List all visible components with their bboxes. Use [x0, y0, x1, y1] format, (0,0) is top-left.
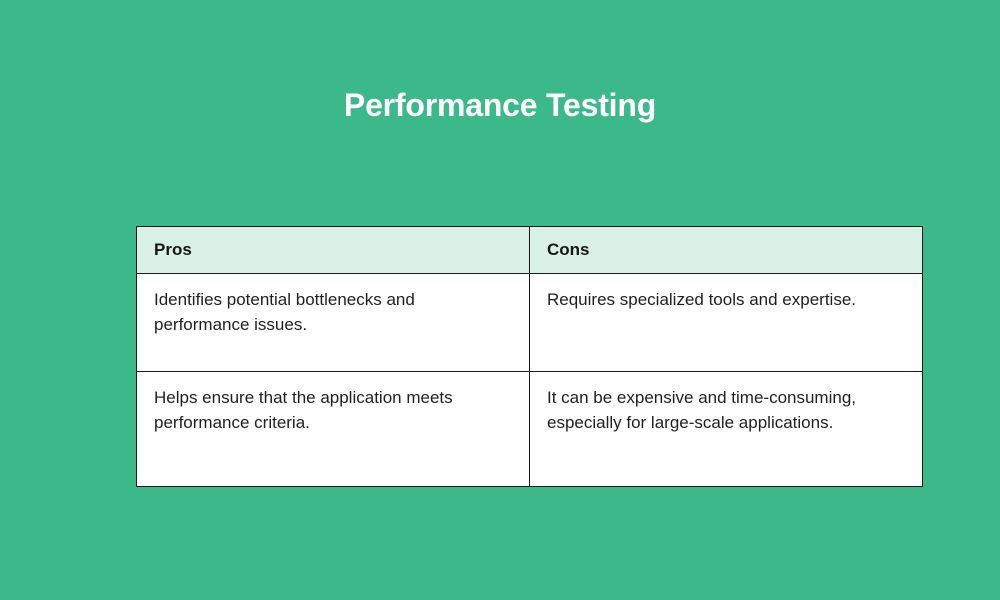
column-header-cons: Cons [530, 227, 923, 274]
table-body: Identifies potential bottlenecks and per… [137, 274, 923, 487]
column-header-pros: Pros [137, 227, 530, 274]
cell-cons-2: It can be expensive and time-consuming, … [530, 372, 923, 487]
pros-cons-table: Pros Cons Identifies potential bottlenec… [136, 226, 923, 487]
slide-canvas: Performance Testing Pros Cons Identifies… [0, 0, 1000, 600]
cell-cons-1: Requires specialized tools and expertise… [530, 274, 923, 372]
table-header: Pros Cons [137, 227, 923, 274]
page-title: Performance Testing [0, 84, 1000, 126]
table-header-row: Pros Cons [137, 227, 923, 274]
table-row: Identifies potential bottlenecks and per… [137, 274, 923, 372]
cell-pros-2: Helps ensure that the application meets … [137, 372, 530, 487]
cell-pros-1: Identifies potential bottlenecks and per… [137, 274, 530, 372]
table-row: Helps ensure that the application meets … [137, 372, 923, 487]
